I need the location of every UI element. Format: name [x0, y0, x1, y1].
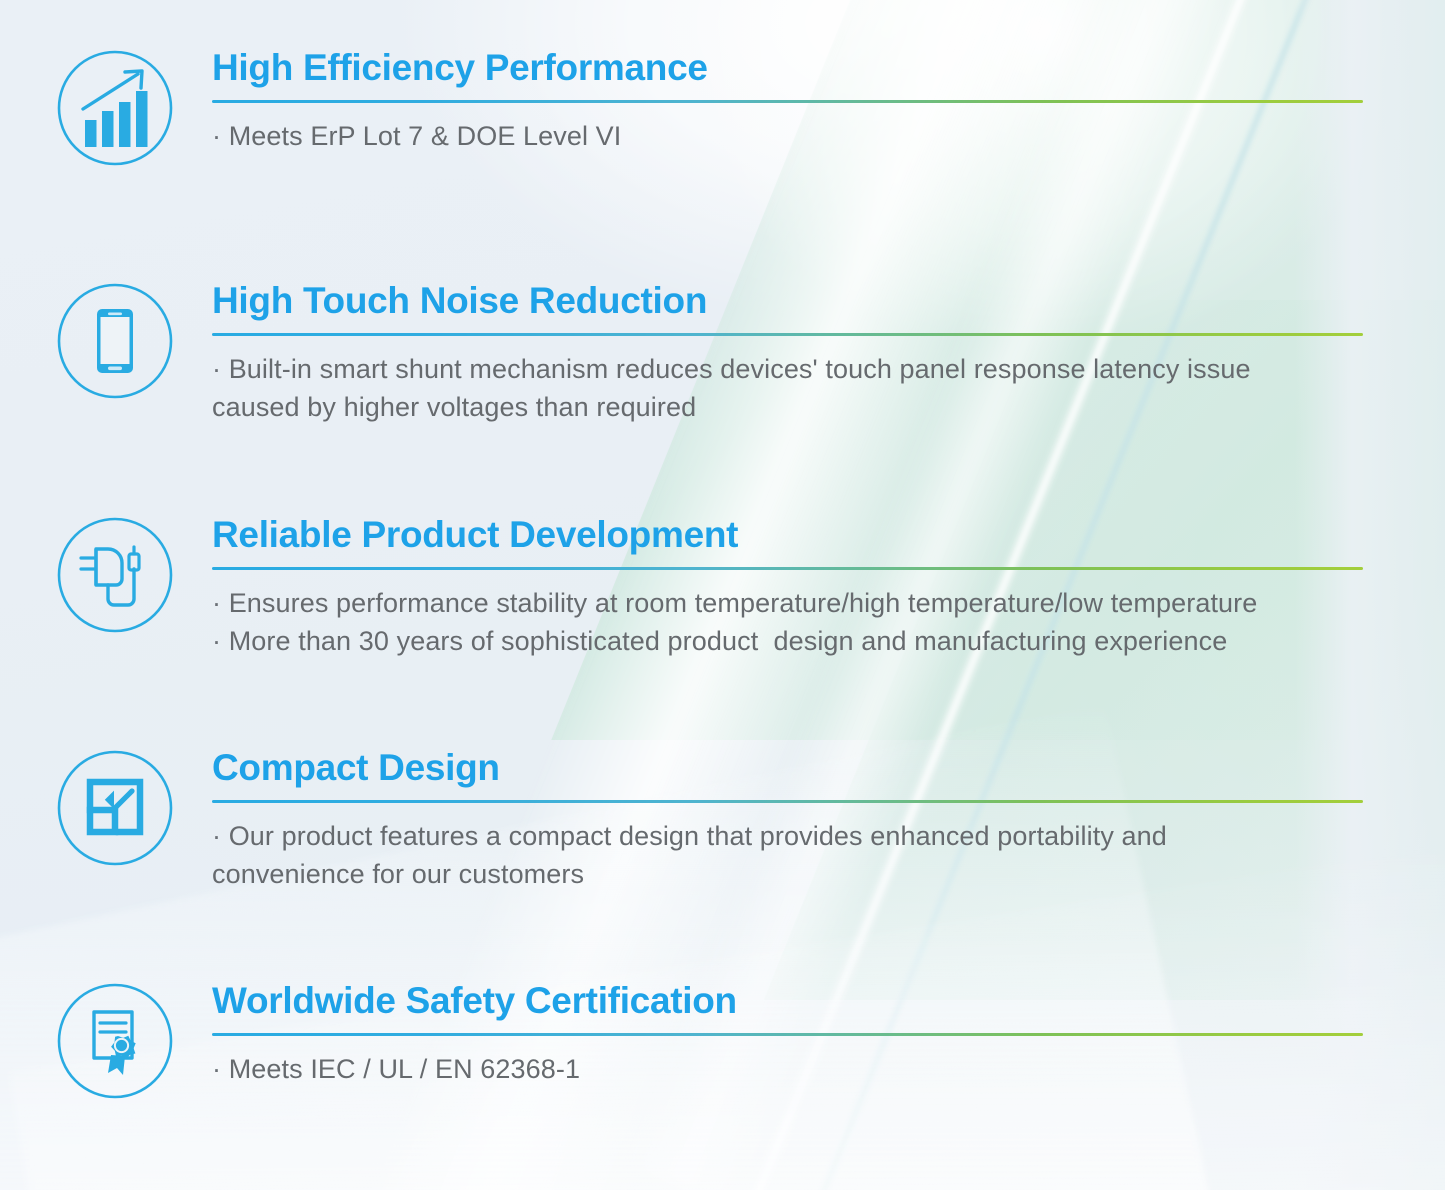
feature-bullets: · Meets ErP Lot 7 & DOE Level VI [212, 117, 1363, 155]
feature-divider [212, 333, 1363, 336]
feature-list-page: High Efficiency Performance · Meets ErP … [0, 0, 1445, 1190]
feature-text-block: High Touch Noise Reduction · Built-in sm… [177, 280, 1363, 427]
feature-divider [212, 1033, 1363, 1036]
feature-title: Worldwide Safety Certification [212, 982, 1363, 1019]
feature-item-reliable-product-development: Reliable Product Development · Ensures p… [52, 514, 1363, 661]
bullet-text: Built-in smart shunt mechanism reduces d… [212, 354, 1251, 422]
bullet-marker: · [212, 626, 221, 656]
feature-title: High Touch Noise Reduction [212, 282, 1363, 319]
feature-item-high-touch-noise-reduction: High Touch Noise Reduction · Built-in sm… [52, 280, 1363, 427]
feature-icon-container [52, 514, 177, 634]
bullet-marker: · [212, 121, 221, 151]
compact-resize-icon [56, 749, 174, 867]
feature-bullets: · Meets IEC / UL / EN 62368-1 [212, 1050, 1363, 1088]
feature-icon-container [52, 747, 177, 867]
feature-divider [212, 100, 1363, 103]
feature-icon-container [52, 280, 177, 400]
feature-text-block: Worldwide Safety Certification · Meets I… [177, 980, 1363, 1088]
bullet-marker: · [212, 354, 221, 384]
bullet-text: Ensures performance stability at room te… [229, 588, 1258, 618]
feature-bullet: · More than 30 years of sophisticated pr… [212, 622, 1363, 660]
feature-text-block: High Efficiency Performance · Meets ErP … [177, 47, 1363, 155]
feature-title: Compact Design [212, 749, 1363, 786]
bullet-text: Our product features a compact design th… [212, 821, 1167, 889]
certificate-award-icon [56, 982, 174, 1100]
feature-item-high-efficiency-performance: High Efficiency Performance · Meets ErP … [52, 47, 1363, 167]
feature-icon-container [52, 980, 177, 1100]
feature-bullets: · Our product features a compact design … [212, 817, 1363, 894]
feature-divider [212, 800, 1363, 803]
smartphone-icon [56, 282, 174, 400]
feature-bullet: · Meets IEC / UL / EN 62368-1 [212, 1050, 1363, 1088]
feature-bullet: · Ensures performance stability at room … [212, 584, 1363, 622]
feature-title: Reliable Product Development [212, 516, 1363, 553]
feature-item-compact-design: Compact Design · Our product features a … [52, 747, 1363, 894]
bar-chart-growth-icon [56, 49, 174, 167]
feature-title: High Efficiency Performance [212, 49, 1363, 86]
feature-bullet: · Meets ErP Lot 7 & DOE Level VI [212, 117, 1363, 155]
feature-item-worldwide-safety-certification: Worldwide Safety Certification · Meets I… [52, 980, 1363, 1100]
power-adapter-icon [56, 516, 174, 634]
bullet-marker: · [212, 821, 221, 851]
feature-icon-container [52, 47, 177, 167]
bullet-text: Meets ErP Lot 7 & DOE Level VI [229, 121, 622, 151]
bullet-marker: · [212, 1054, 221, 1084]
feature-bullets: · Ensures performance stability at room … [212, 584, 1363, 661]
feature-bullet: · Built-in smart shunt mechanism reduces… [212, 350, 1363, 427]
feature-list: High Efficiency Performance · Meets ErP … [0, 0, 1445, 1190]
feature-text-block: Compact Design · Our product features a … [177, 747, 1363, 894]
feature-bullets: · Built-in smart shunt mechanism reduces… [212, 350, 1363, 427]
bullet-marker: · [212, 588, 221, 618]
feature-bullet: · Our product features a compact design … [212, 817, 1363, 894]
bullet-text: Meets IEC / UL / EN 62368-1 [229, 1054, 580, 1084]
feature-divider [212, 567, 1363, 570]
feature-text-block: Reliable Product Development · Ensures p… [177, 514, 1363, 661]
bullet-text: More than 30 years of sophisticated prod… [229, 626, 1228, 656]
